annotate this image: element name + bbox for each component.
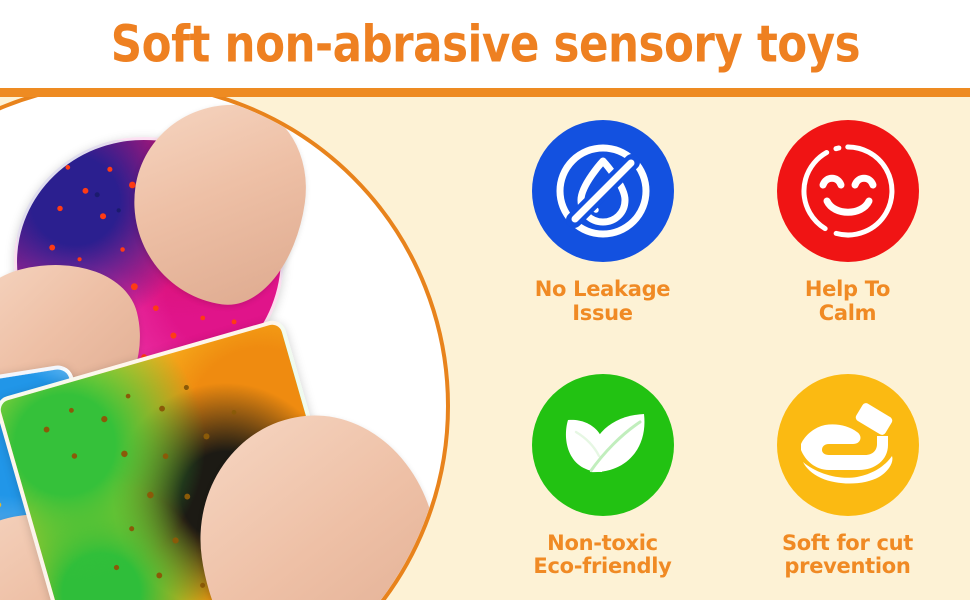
product-photo-panel [0, 97, 470, 600]
hand-holding-pad-icon [795, 392, 901, 498]
feature-label: Non-toxic Eco-friendly [533, 532, 671, 579]
product-photo-circle-frame [0, 97, 450, 600]
water-drop-crossed-out-icon [551, 139, 655, 243]
smiley-face-icon [794, 137, 902, 245]
no-leakage-icon [532, 120, 674, 262]
feature-grid: No Leakage Issue Help To Calm [480, 97, 970, 600]
feature-help-to-calm: Help To Calm [725, 120, 970, 325]
header-divider [0, 88, 970, 97]
product-feature-banner: Soft non-abrasive sensory toys [0, 0, 970, 600]
non-toxic-eco-friendly-icon [532, 374, 674, 516]
feature-non-toxic: Non-toxic Eco-friendly [480, 370, 725, 579]
page-title: Soft non-abrasive sensory toys [110, 14, 859, 73]
feature-soft-for-cut-prevention: Soft for cut prevention [725, 370, 970, 579]
product-photo-image [0, 97, 446, 600]
feature-label: Soft for cut prevention [782, 532, 913, 579]
feature-label: Help To Calm [805, 278, 890, 325]
banner-header: Soft non-abrasive sensory toys [0, 0, 970, 88]
feature-no-leakage: No Leakage Issue [480, 120, 725, 325]
help-to-calm-icon [777, 120, 919, 262]
two-leaves-icon [552, 394, 654, 496]
feature-label: No Leakage Issue [535, 278, 671, 325]
soft-for-cut-prevention-icon [777, 374, 919, 516]
